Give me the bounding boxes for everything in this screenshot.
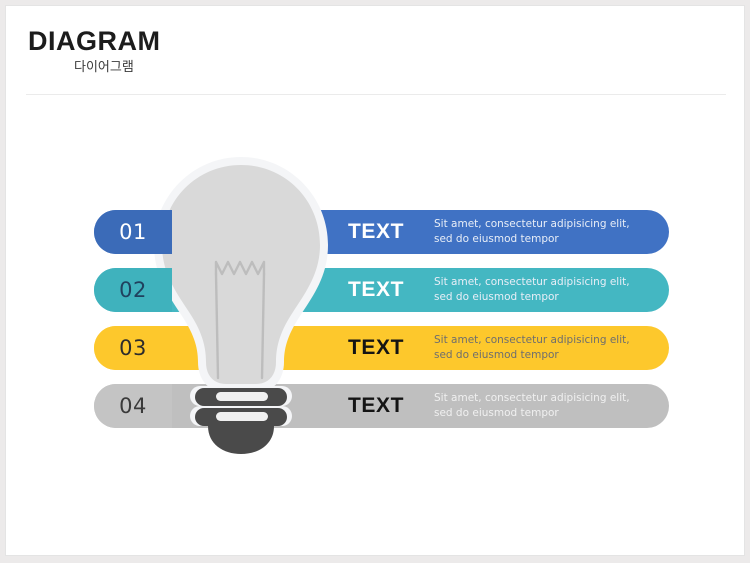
row-number: 03 bbox=[94, 326, 172, 370]
row-number: 02 bbox=[94, 268, 172, 312]
diagram-row-badge[interactable]: 04 bbox=[94, 384, 669, 428]
diagram-row-badge[interactable]: 03 bbox=[94, 326, 669, 370]
lightbulb-diagram: TEXT Sit amet, consectetur adipisicing e… bbox=[6, 6, 745, 556]
row-number: 04 bbox=[94, 384, 172, 428]
diagram-row-badge[interactable]: 02 bbox=[94, 268, 669, 312]
slide-canvas: DIAGRAM 다이어그램 TEXT Sit amet, consectetur… bbox=[5, 5, 745, 556]
diagram-row-badge[interactable]: 01 bbox=[94, 210, 669, 254]
row-number: 01 bbox=[94, 210, 172, 254]
